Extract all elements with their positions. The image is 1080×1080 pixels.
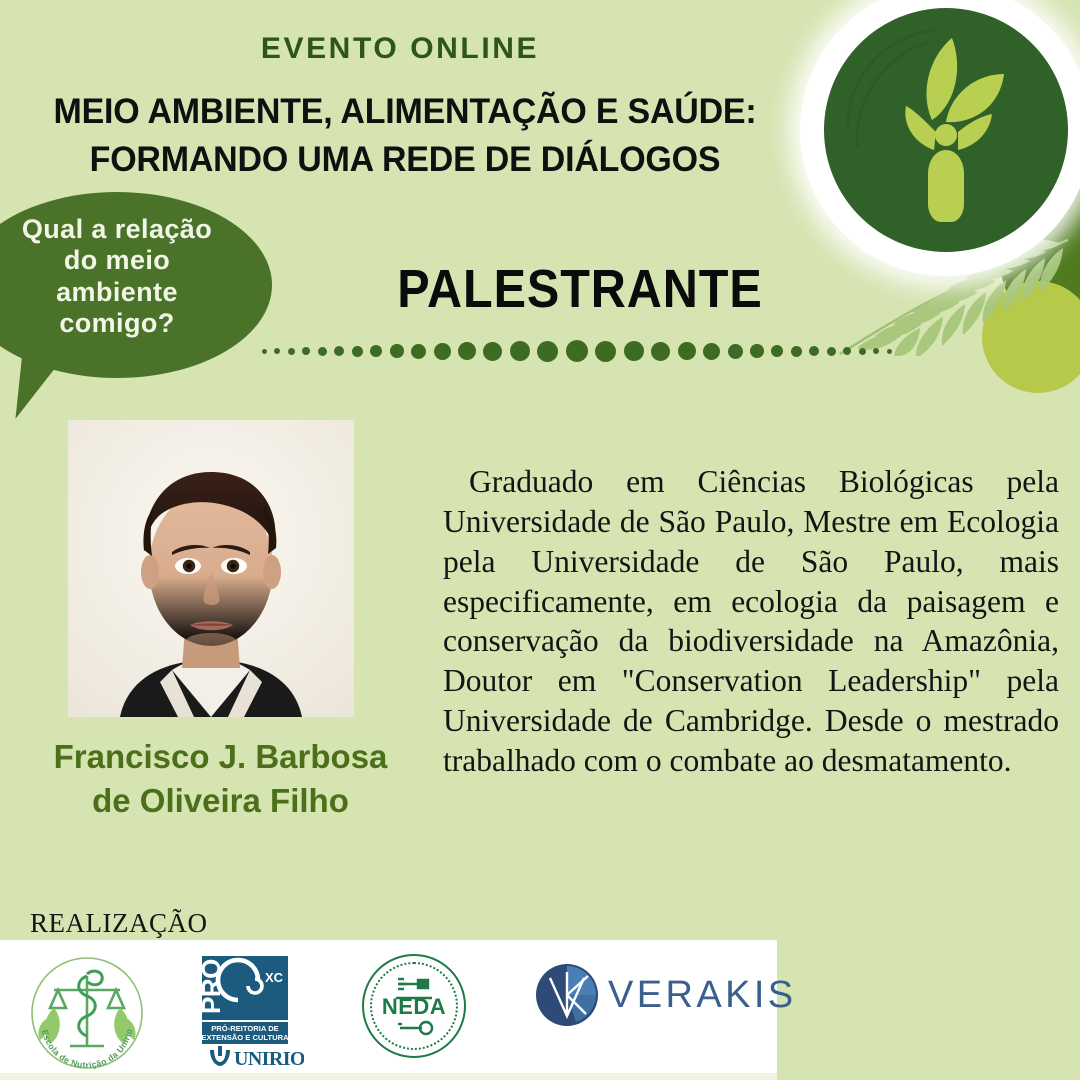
divider-dot xyxy=(728,344,743,359)
verakis-logo: VERAKIS xyxy=(536,962,766,1032)
speaker-portrait xyxy=(68,420,354,717)
divider-dot xyxy=(390,344,404,358)
section-heading: PALESTRANTE xyxy=(328,258,832,320)
speech-bubble-text: Qual a relação do meio ambiente comigo? xyxy=(0,214,248,339)
bubble-line-2: do meio xyxy=(0,245,248,276)
divider-dot xyxy=(873,348,879,354)
divider-dot xyxy=(458,342,476,360)
divider-dot xyxy=(771,345,783,357)
page-title: MEIO AMBIENTE, ALIMENTAÇÃO E SAÚDE: FORM… xyxy=(12,88,798,185)
divider-dot xyxy=(334,346,344,356)
divider-dot xyxy=(624,341,644,361)
speech-bubble: Qual a relação do meio ambiente comigo? xyxy=(0,192,272,422)
event-poster: { "colors": { "background": "#d6e4b2", "… xyxy=(0,0,1080,1080)
brand-logo-disc xyxy=(824,8,1068,252)
divider-dot xyxy=(809,346,819,356)
svg-text:EXTENSÃO E CULTURA: EXTENSÃO E CULTURA xyxy=(201,1033,289,1042)
divider-dot xyxy=(411,344,426,359)
svg-text:PRÓ-REITORIA DE: PRÓ-REITORIA DE xyxy=(211,1024,279,1033)
divider-dot xyxy=(791,346,802,357)
footer-logos: Escola de Nutrição da Unirio PRO XC PRÓ-… xyxy=(0,940,777,1073)
divider-dot xyxy=(537,341,558,362)
divider-dot xyxy=(274,348,280,354)
svg-text:UNIRIO: UNIRIO xyxy=(234,1048,304,1068)
divider-dot xyxy=(288,348,295,355)
brand-logo xyxy=(800,0,1080,276)
proexc-unirio-logo: PRO XC PRÓ-REITORIA DE EXTENSÃO E CULTUR… xyxy=(186,956,304,1068)
verakis-wordmark: VERAKIS xyxy=(608,974,797,1017)
person-with-leaves-icon xyxy=(824,8,1068,252)
divider-dot xyxy=(678,342,696,360)
event-kicker: EVENTO ONLINE xyxy=(0,32,800,66)
divider-dot xyxy=(352,346,363,357)
divider-dot xyxy=(262,349,267,354)
footer-bottom-strip xyxy=(0,1073,777,1080)
divider-dot xyxy=(859,348,866,355)
svg-text:XC: XC xyxy=(265,970,284,985)
divider-dot xyxy=(887,349,892,354)
speaker-bio: Graduado em Ciências Biológicas pela Uni… xyxy=(443,462,1059,781)
divider-dot xyxy=(318,347,327,356)
page-title-line-1: MEIO AMBIENTE, ALIMENTAÇÃO E SAÚDE: xyxy=(12,88,798,136)
divider-dot xyxy=(370,345,382,357)
divider-dot xyxy=(510,341,530,361)
divider-dot xyxy=(566,340,588,362)
neda-logo: NEDA xyxy=(362,954,466,1058)
speaker-name: Francisco J. Barbosa de Oliveira Filho xyxy=(8,735,433,823)
footer-label: REALIZAÇÃO xyxy=(30,908,207,939)
divider-dot xyxy=(703,343,720,360)
divider-dot xyxy=(483,342,502,361)
divider-dot xyxy=(750,344,764,358)
speaker-name-line-1: Francisco J. Barbosa xyxy=(8,735,433,779)
escola-nutricao-unirio-logo: Escola de Nutrição da Unirio xyxy=(24,954,150,1072)
page-title-line-2: FORMANDO UMA REDE DE DIÁLOGOS xyxy=(12,136,798,184)
divider-dot xyxy=(651,342,670,361)
divider-dot xyxy=(434,343,451,360)
bubble-line-3: ambiente xyxy=(0,277,248,308)
divider-dot xyxy=(595,341,616,362)
divider-dot xyxy=(827,347,836,356)
divider-dot xyxy=(302,347,310,355)
speaker-name-line-2: de Oliveira Filho xyxy=(8,779,433,823)
bubble-line-4: comigo? xyxy=(0,308,248,339)
divider-dot xyxy=(843,347,851,355)
dotted-divider xyxy=(262,336,892,366)
bubble-line-1: Qual a relação xyxy=(0,214,248,245)
